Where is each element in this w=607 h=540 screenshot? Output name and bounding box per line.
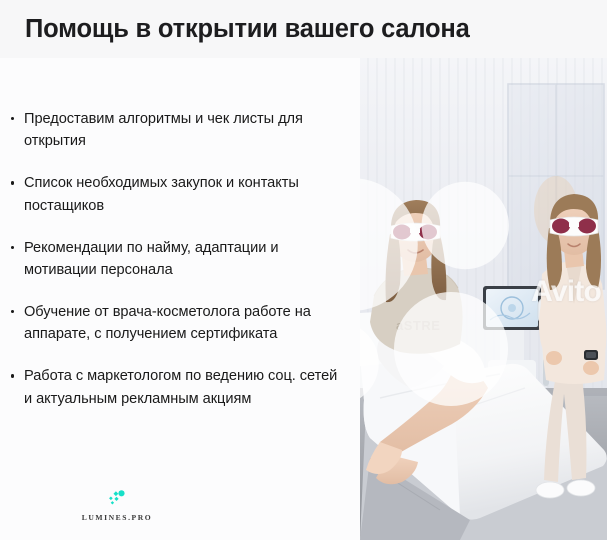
brand-logo-label: LUMINES.PRO: [57, 513, 177, 522]
list-item-label: Работа с маркетологом по ведению соц. се…: [24, 368, 337, 406]
bullet-dot-icon: [11, 117, 14, 120]
list-item-label: Обучение от врача-косметолога работе на …: [24, 304, 311, 342]
bullet-dot-icon: [11, 181, 14, 184]
list-item: Список необходимых закупок и контакты по…: [0, 172, 352, 216]
list-item-label: Рекомендации по найму, адаптации и мотив…: [24, 240, 278, 278]
bullet-dot-icon: [11, 310, 14, 313]
salon-photo: aSTRE: [360, 58, 607, 540]
page-title: Помощь в открытии вашего салона: [0, 15, 470, 43]
salon-photo-illustration: aSTRE: [360, 58, 607, 540]
benefits-list: Предоставим алгоритмы и чек листы для от…: [0, 108, 352, 410]
bullet-dot-icon: [11, 246, 14, 249]
bullet-dot-icon: [11, 374, 14, 377]
list-item-label: Предоставим алгоритмы и чек листы для от…: [24, 111, 303, 149]
list-item: Обучение от врача-косметолога работе на …: [0, 301, 352, 345]
list-item-label: Список необходимых закупок и контакты по…: [24, 175, 299, 213]
list-item: Работа с маркетологом по ведению соц. се…: [0, 365, 352, 409]
brand-logo: LUMINES.PRO: [57, 489, 177, 522]
svg-text:aSTRE: aSTRE: [396, 318, 440, 333]
slide-root: Помощь в открытии вашего салона Предоста…: [0, 0, 607, 540]
teal-dots-icon: [104, 489, 130, 509]
header-bar: Помощь в открытии вашего салона: [0, 0, 607, 58]
list-item: Рекомендации по найму, адаптации и мотив…: [0, 237, 352, 281]
list-item: Предоставим алгоритмы и чек листы для от…: [0, 108, 352, 152]
